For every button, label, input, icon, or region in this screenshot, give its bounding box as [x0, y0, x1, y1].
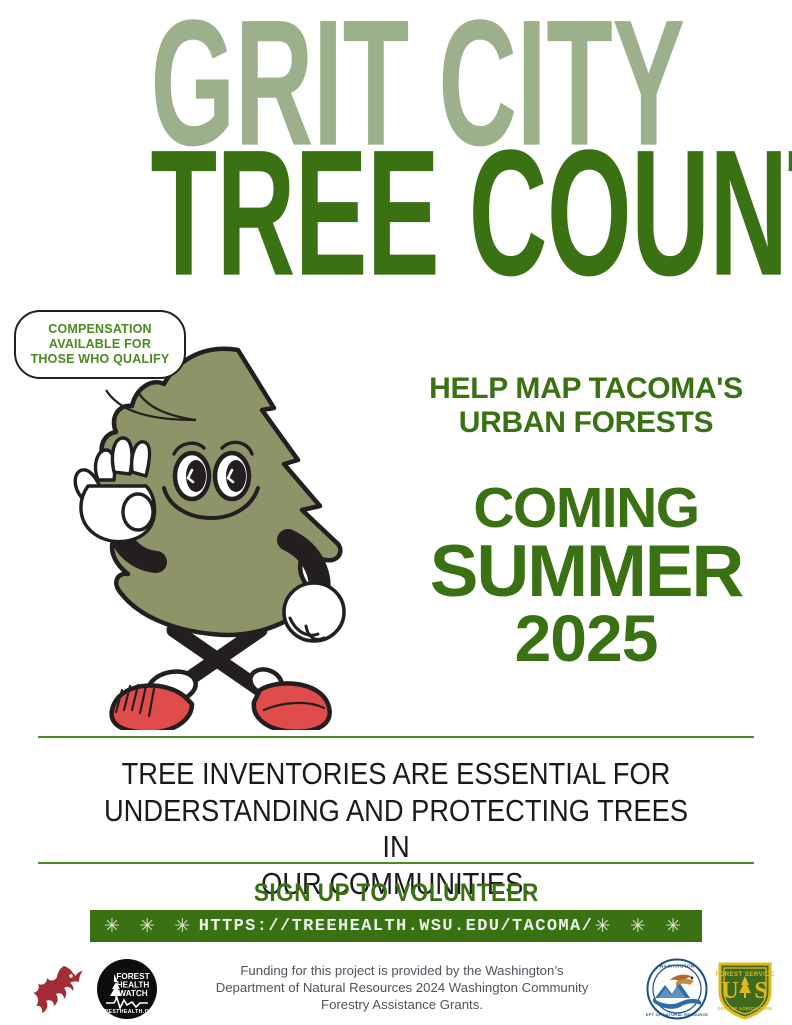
- signup-label-text: SIGN UP TO VOLUNTEER: [253, 879, 538, 908]
- usfs-text-usda: DEPT OF AGRICULTURE: [717, 1006, 772, 1011]
- footer-logos-right: WASHINGTON DEPT OF NATURAL RESOURCES FOR…: [646, 958, 792, 1020]
- footer: FOREST HEALTH WATCH FORESTHEALTH.ORG Fun…: [0, 952, 792, 1025]
- date-coming: COMING: [390, 481, 782, 537]
- signup-label: SIGN UP TO VOLUNTEER: [0, 879, 792, 908]
- date-year: 2025: [390, 606, 782, 671]
- signup-url-text[interactable]: HTTPS://TREEHEALTH.WSU.EDU/TACOMA/: [199, 917, 593, 936]
- wa-dnr-seal: WASHINGTON DEPT OF NATURAL RESOURCES: [646, 958, 708, 1020]
- divider-top: [38, 736, 754, 738]
- speech-bubble-line-2: AVAILABLE FOR: [24, 337, 176, 352]
- speech-bubble-body: COMPENSATION AVAILABLE FOR THOSE WHO QUA…: [14, 310, 186, 379]
- dnr-text-dept: DEPT OF NATURAL RESOURCES: [646, 1013, 708, 1017]
- tree-mascot-illustration: [52, 330, 392, 730]
- funding-line-3: Forestry Assistance Grants.: [164, 997, 640, 1014]
- footer-logos-left: FOREST HEALTH WATCH FORESTHEALTH.ORG: [0, 958, 158, 1020]
- usfs-text-u: U: [721, 978, 738, 1004]
- usfs-text-s: S: [754, 978, 767, 1004]
- headline-line-2: URBAN FORESTS: [390, 406, 782, 440]
- date-summer: SUMMER: [390, 537, 782, 606]
- right-text-block: HELP MAP TACOMA'S URBAN FORESTS COMING S…: [390, 372, 782, 671]
- headline: HELP MAP TACOMA'S URBAN FORESTS: [390, 372, 782, 439]
- dnr-text-washington: WASHINGTON: [659, 963, 694, 968]
- funding-line-1: Funding for this project is provided by …: [164, 963, 640, 980]
- funding-line-2: Department of Natural Resources 2024 Was…: [164, 980, 640, 997]
- fhw-text-watch: WATCH: [118, 989, 147, 998]
- speech-bubble-line-1: COMPENSATION: [24, 322, 176, 337]
- headline-line-1: HELP MAP TACOMA'S: [390, 372, 782, 406]
- tagline-line-2: UNDERSTANDING AND PROTECTING TREES IN: [88, 793, 704, 866]
- forest-health-watch-logo: FOREST HEALTH WATCH FORESTHEALTH.ORG: [96, 958, 158, 1020]
- poster-canvas: GRIT CITY TREE COUNT COMPENSATION AVAILA…: [0, 0, 792, 1025]
- asterisk-decoration-right-icon: ✳ ✳ ✳: [595, 917, 688, 936]
- poster-title: GRIT CITY TREE COUNT: [0, 10, 792, 285]
- signup-url-bar[interactable]: ✳ ✳ ✳ HTTPS://TREEHEALTH.WSU.EDU/TACOMA/…: [90, 910, 702, 942]
- title-line-tree-count: TREE COUNT: [150, 140, 641, 287]
- tagline-line-1: TREE INVENTORIES ARE ESSENTIAL FOR: [88, 756, 704, 793]
- fhw-text-url: FORESTHEALTH.ORG: [96, 1009, 157, 1015]
- speech-bubble-line-3: THOSE WHO QUALIFY: [24, 352, 176, 367]
- funding-statement: Funding for this project is provided by …: [158, 963, 646, 1013]
- us-forest-service-shield: FOREST SERVICE U S DEPT OF AGRICULTURE: [716, 958, 774, 1020]
- asterisk-decoration-left-icon: ✳ ✳ ✳: [104, 917, 197, 936]
- wsu-cougar-logo: [26, 960, 86, 1018]
